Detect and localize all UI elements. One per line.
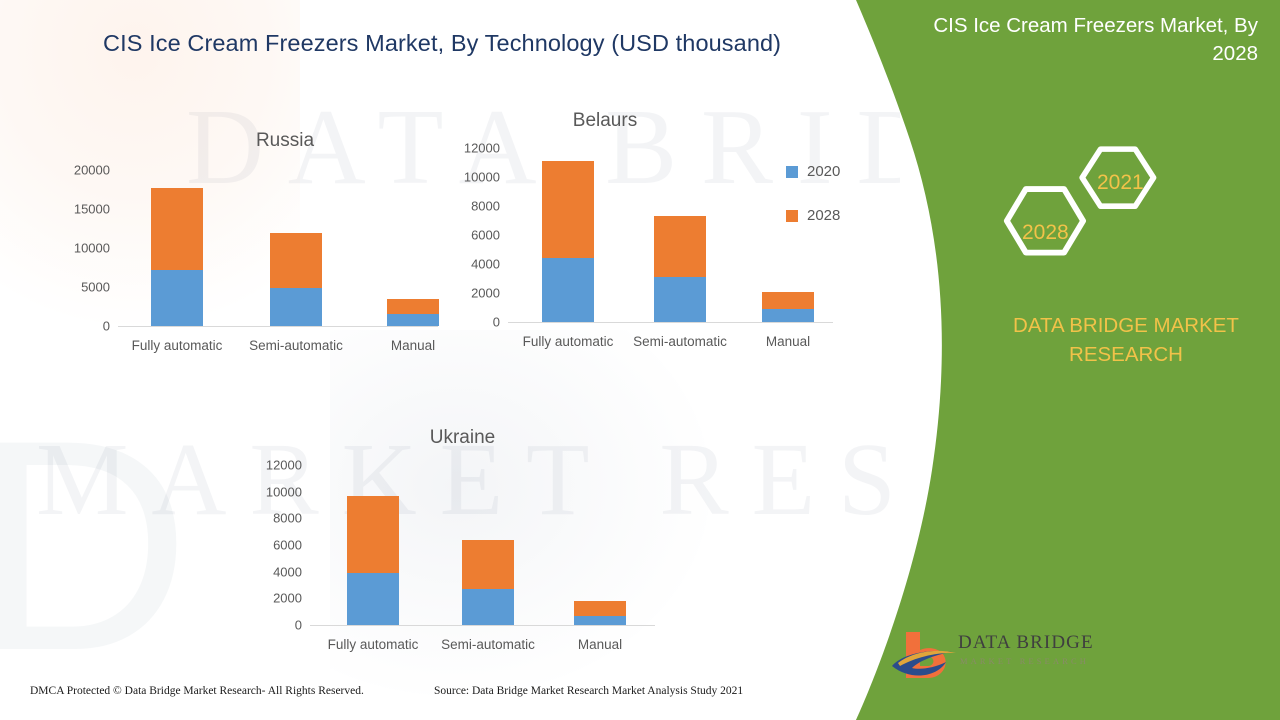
bar-stack [574,601,626,625]
panel-title: CIS Ice Cream Freezers Market, By 2028 [888,12,1258,68]
brand-name: DATA BRIDGE MARKET RESEARCH [985,311,1267,369]
y-axis-tick: 6000 [250,538,302,553]
y-axis-tick: 10000 [250,484,302,499]
infographic-canvas: D DATA BRIDGE MARKET RESEARCH CIS Ice Cr… [0,0,1280,720]
x-axis-label: Manual [578,637,622,652]
y-axis-tick: 2000 [250,591,302,606]
x-axis-label: Fully automatic [328,637,419,652]
bar-segment-2028 [574,601,626,616]
bar-segment-2028 [462,540,514,589]
y-axis-tick: 8000 [250,511,302,526]
legend-swatch-2020 [786,166,798,178]
logo-name: DATA BRIDGE [958,632,1094,654]
footer: DMCA Protected © Data Bridge Market Rese… [0,685,860,707]
bar-stack [347,496,399,625]
bar-segment-2020 [462,589,514,625]
y-axis-tick: 0 [250,618,302,633]
hexagon-shapes [975,135,1185,285]
x-axis-label: Semi-automatic [441,637,535,652]
legend-swatch-2028 [786,210,798,222]
x-axis-line [310,625,655,626]
y-axis-tick: 4000 [250,564,302,579]
bar-segment-2020 [574,616,626,625]
footer-copyright: DMCA Protected © Data Bridge Market Rese… [30,685,364,697]
logo-subtitle: MARKET RESEARCH [960,657,1089,666]
chart-title: Ukraine [330,427,595,449]
bar-stack [462,540,514,625]
hexagon-label-2028: 2028 [1022,221,1069,245]
footer-source: Source: Data Bridge Market Research Mark… [434,685,743,697]
data-bridge-logo: DATA BRIDGE MARKET RESEARCH [890,630,1105,690]
hexagon-badges [975,135,1185,285]
bar-segment-2020 [347,573,399,625]
y-axis-tick: 12000 [250,458,302,473]
hexagon-label-2021: 2021 [1097,171,1144,195]
bar-segment-2028 [347,496,399,573]
